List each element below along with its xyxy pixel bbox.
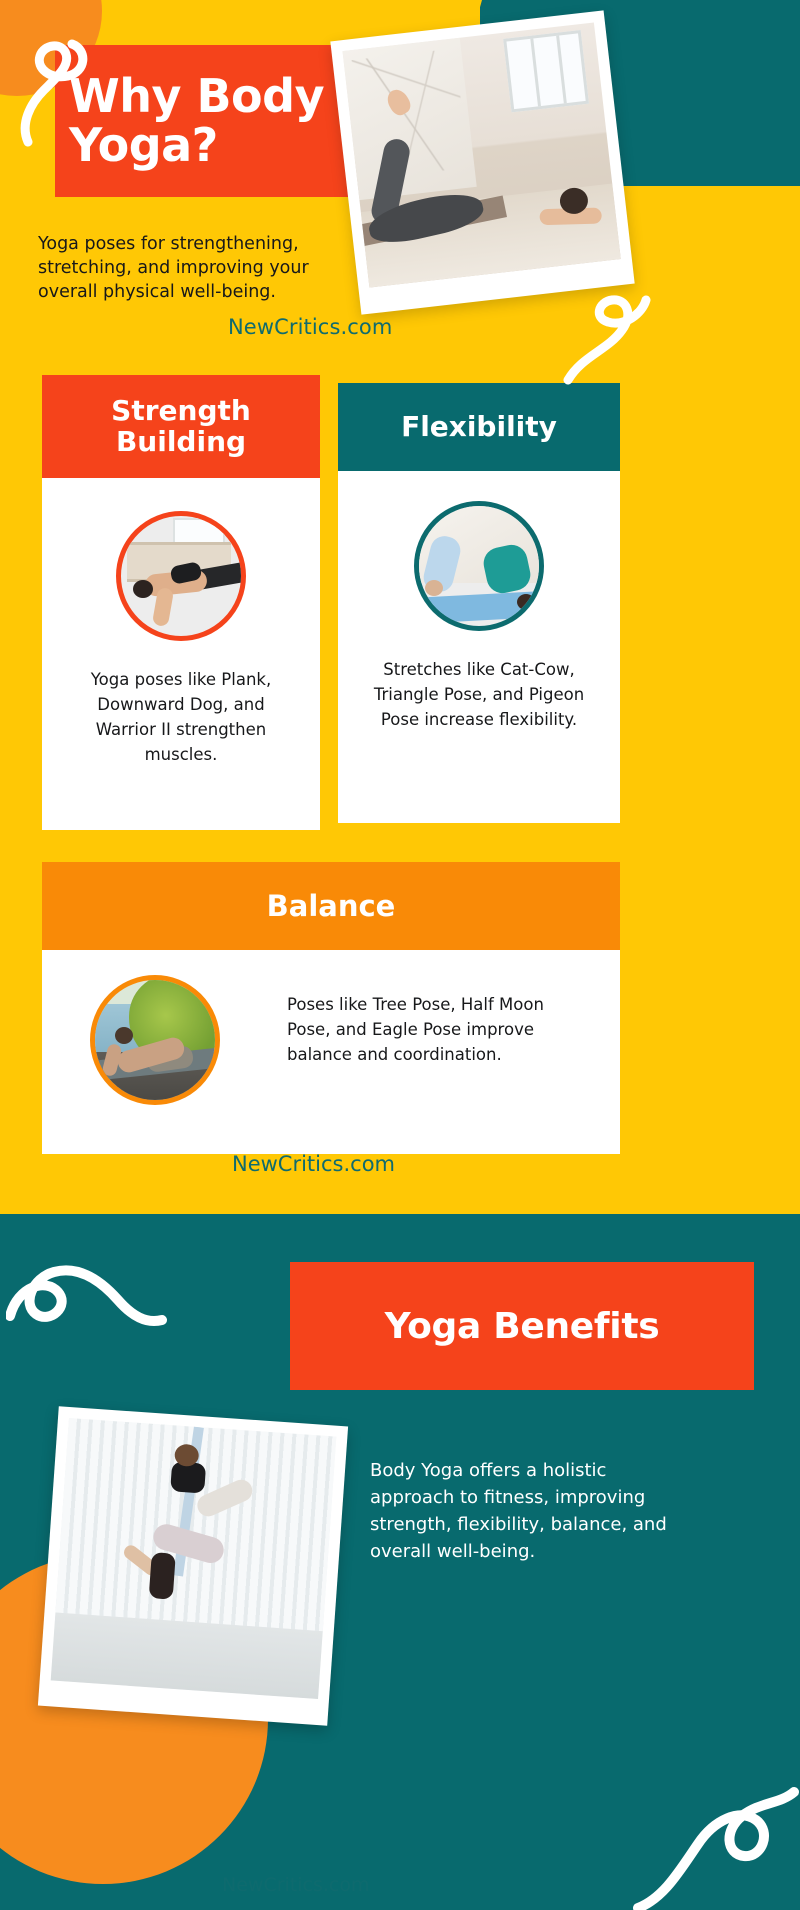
card-balance-header: Balance <box>42 862 620 950</box>
card-flexibility[interactable]: Flexibility Stretches like Cat-Cow, Tria… <box>338 383 620 823</box>
swirl-doodle-icon-4 <box>628 1712 800 1910</box>
page-title-line2: Yoga? <box>69 121 324 170</box>
card-strength-building[interactable]: Strength Building Yoga poses like Plank,… <box>42 375 320 830</box>
card-flexibility-title: Flexibility <box>401 412 557 443</box>
card-balance-title: Balance <box>267 889 396 923</box>
benefits-section: Yoga Benefits Body Yoga offers a holisti… <box>0 1214 800 1910</box>
watermark-bottom: NewCritics.com <box>222 1874 370 1896</box>
watermark-top: NewCritics.com <box>228 315 392 339</box>
card-balance-image <box>90 975 220 1105</box>
card-balance[interactable]: Balance Poses like Tree Pose, Half Moon … <box>42 862 620 1154</box>
benefits-title-block: Yoga Benefits <box>290 1262 754 1390</box>
benefits-body-text: Body Yoga offers a holistic approach to … <box>370 1457 668 1565</box>
hero-photo-frame <box>330 10 634 314</box>
swirl-doodle-icon-3 <box>6 1244 186 1364</box>
card-flexibility-header: Flexibility <box>338 383 620 471</box>
card-strength-image <box>116 511 246 641</box>
card-strength-header: Strength Building <box>42 375 320 478</box>
infographic-page: Why Body Yoga? Yoga poses for strengthen… <box>0 0 800 1910</box>
card-flexibility-image-wrap <box>338 471 620 631</box>
hero-section: Why Body Yoga? Yoga poses for strengthen… <box>0 0 800 372</box>
card-strength-body: Yoga poses like Plank, Downward Dog, and… <box>42 641 320 767</box>
card-strength-title: Strength Building <box>42 396 320 458</box>
card-flexibility-image <box>414 501 544 631</box>
watermark-middle: NewCritics.com <box>232 1152 395 1176</box>
hero-photo-image <box>342 22 620 287</box>
card-flexibility-body: Stretches like Cat-Cow, Triangle Pose, a… <box>338 631 620 732</box>
hero-subtitle: Yoga poses for strengthening, stretching… <box>38 232 338 304</box>
card-strength-image-wrap <box>42 478 320 641</box>
benefits-photo-frame <box>38 1406 348 1725</box>
page-title: Why Body Yoga? <box>55 72 324 170</box>
benefits-photo-image <box>51 1418 337 1699</box>
card-balance-body-area: Poses like Tree Pose, Half Moon Pose, an… <box>42 950 620 1154</box>
card-balance-body: Poses like Tree Pose, Half Moon Pose, an… <box>287 993 577 1067</box>
page-title-line1: Why Body <box>69 72 324 121</box>
benefits-title-text: Yoga Benefits <box>385 1306 660 1347</box>
